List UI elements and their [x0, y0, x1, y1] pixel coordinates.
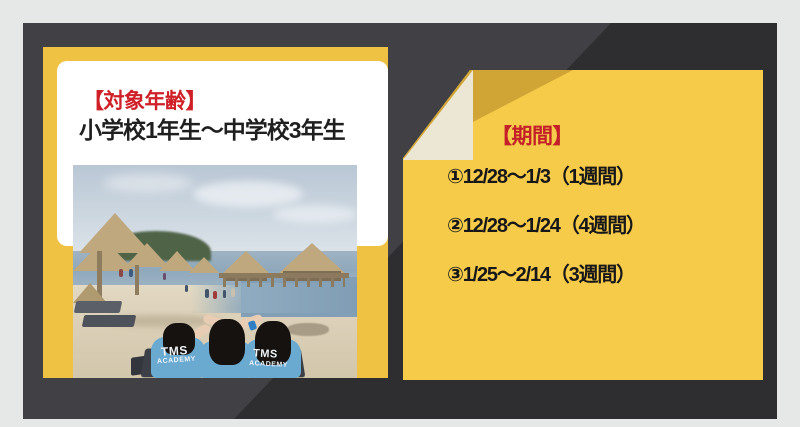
- shirt-logo-primary: TMS: [253, 348, 278, 360]
- photo-person: [231, 288, 235, 297]
- photo-person: [163, 273, 166, 280]
- photo-person: [205, 289, 209, 298]
- photo-rock: [287, 323, 329, 336]
- folded-corner-face: [403, 70, 473, 160]
- period-list: ①12/28〜1/3（1週間） ②12/28〜1/24（4週間） ③1/25〜2…: [447, 160, 757, 307]
- beach-photo: TMS ACADEMY TMS ACADEMY: [73, 165, 357, 378]
- period-heading: 【期間】: [491, 120, 573, 150]
- photo-hut-post: [97, 251, 102, 297]
- photo-cloud: [193, 181, 303, 207]
- photo-cloud: [273, 205, 357, 223]
- period-item: ②12/28〜1/24（4週間）: [447, 209, 757, 238]
- period-panel: 【期間】 ①12/28〜1/3（1週間） ②12/28〜1/24（4週間） ③1…: [403, 70, 763, 380]
- photo-person: [223, 290, 226, 298]
- photo-cloud: [103, 173, 193, 193]
- photo-lounge-chair: [74, 301, 123, 313]
- photo-person: [213, 291, 217, 299]
- photo-lounge-chair: [82, 315, 137, 327]
- period-item: ③1/25〜2/14（3週間）: [447, 258, 757, 287]
- photo-hut-post: [135, 265, 139, 295]
- period-item: ①12/28〜1/3（1週間）: [447, 160, 757, 189]
- poster-root: 【対象年齢】 小学校1年生〜中学校3年生: [0, 0, 800, 427]
- left-block: 【対象年齢】 小学校1年生〜中学校3年生: [43, 47, 388, 378]
- target-age-subheading: 小学校1年生〜中学校3年生: [79, 111, 345, 145]
- photo-hair: [209, 319, 245, 365]
- photo-person: [119, 269, 123, 277]
- photo-person: [185, 285, 188, 292]
- photo-pier-legs: [223, 277, 345, 287]
- photo-person: [129, 269, 133, 277]
